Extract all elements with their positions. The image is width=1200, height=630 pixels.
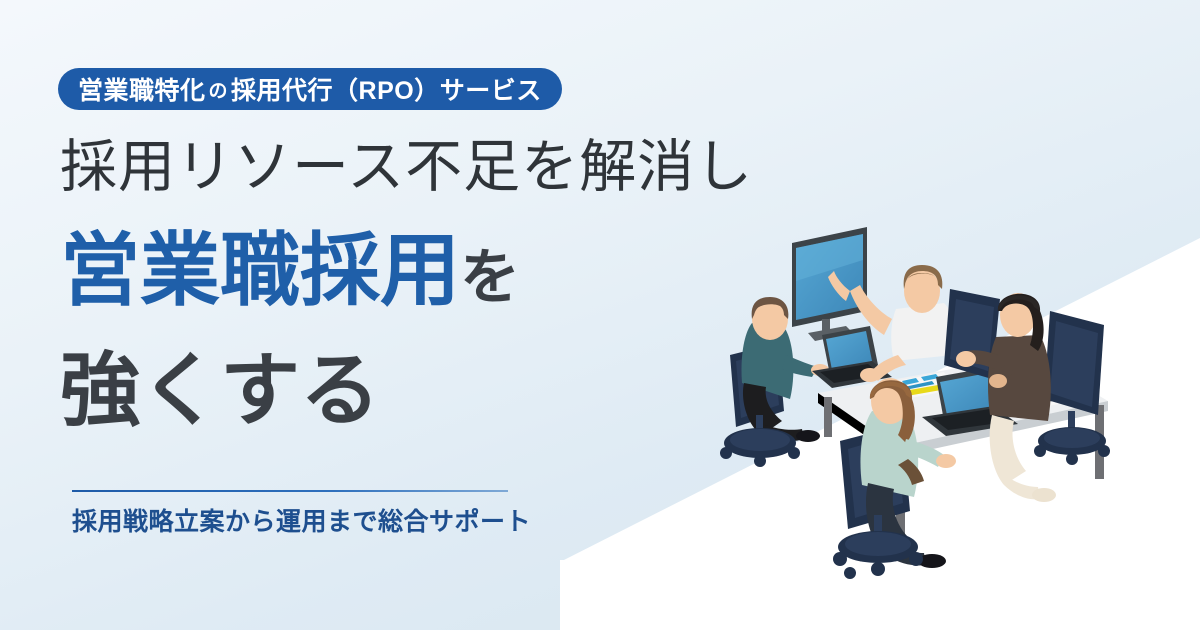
office-chair-left: [720, 415, 800, 467]
tagline-divider: [72, 490, 508, 492]
headline-line-1: 採用リソース不足を解消し: [60, 139, 753, 196]
badge-part2: 採用代行（RPO）サービス: [231, 71, 542, 107]
tagline: 採用戦略立案から運用まで総合サポート: [72, 502, 531, 538]
office-meeting-illustration: [700, 215, 1200, 630]
headline-line-3: 強くする: [60, 351, 380, 431]
copy-block: 営業職特化 の 採用代行（RPO）サービス 採用リソース不足を解消し 営業職採用…: [0, 0, 700, 630]
headline-highlight: 営業職採用: [60, 226, 460, 315]
office-chair-front: [833, 515, 923, 579]
headline-particle-wo: を: [460, 244, 520, 311]
hero-banner: 営業職特化 の 採用代行（RPO）サービス 採用リソース不足を解消し 営業職採用…: [0, 0, 1200, 630]
badge-particle: の: [206, 76, 232, 103]
service-badge: 営業職特化 の 採用代行（RPO）サービス: [58, 68, 562, 110]
desktop-monitor: [792, 227, 867, 341]
headline-line-2: 営業職採用を: [60, 231, 520, 311]
badge-part1: 営業職特化: [78, 71, 206, 107]
